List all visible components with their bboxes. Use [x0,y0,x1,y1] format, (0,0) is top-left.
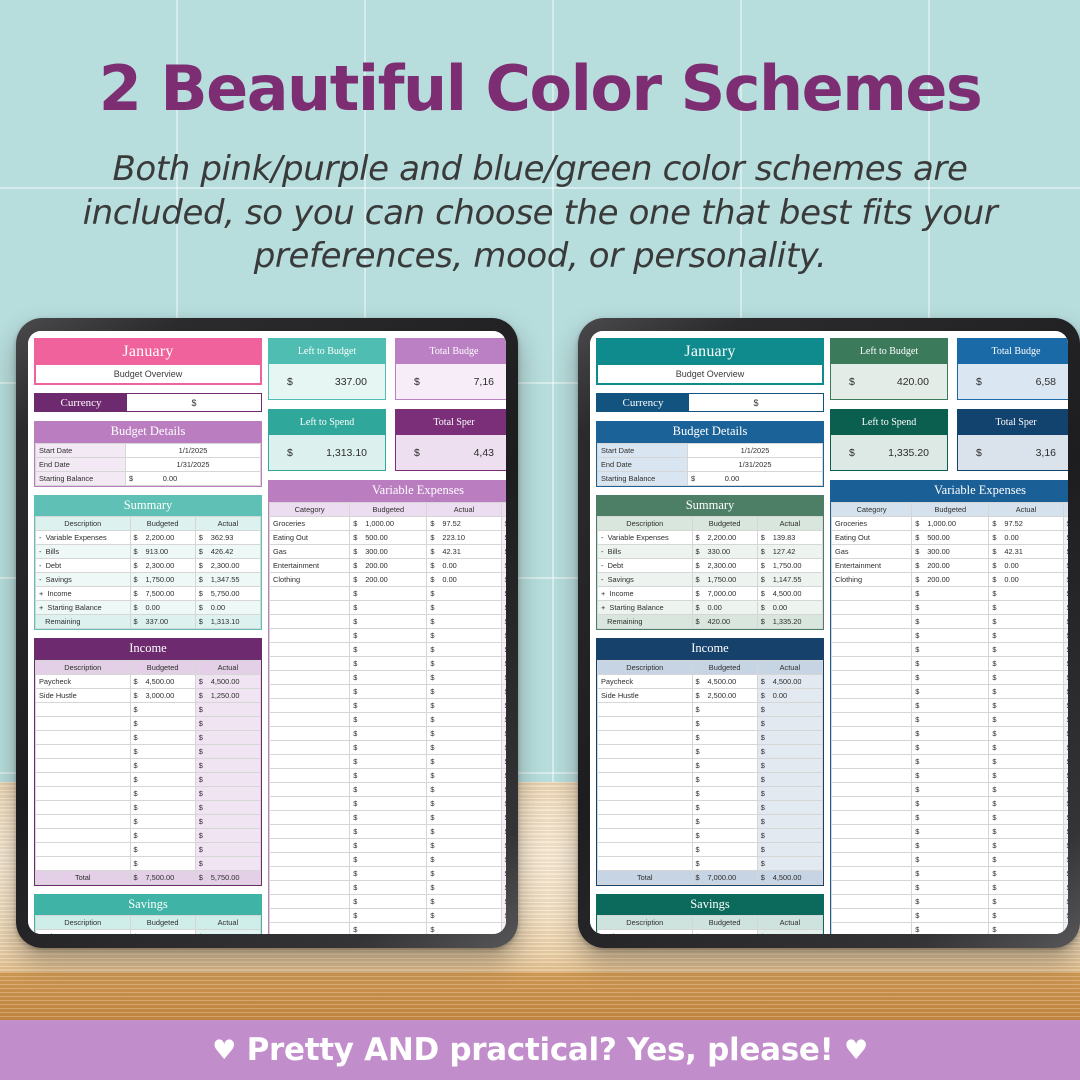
money-cell[interactable]: $ [350,600,427,614]
money-cell[interactable]: $2,200.00 [130,531,195,545]
row-label[interactable] [832,726,912,740]
money-cell[interactable]: $ [757,842,822,856]
row-label[interactable] [832,922,912,934]
money-cell[interactable]: $ [912,586,989,600]
money-cell[interactable]: $ [350,628,427,642]
row-label[interactable] [598,842,693,856]
money-cell[interactable]: $913.00 [130,545,195,559]
row-label[interactable] [36,716,131,730]
table-row[interactable]: $$ [598,786,823,800]
table-row[interactable]: Eating Out$500.00$0.00$500 [832,530,1069,544]
row-label[interactable] [270,768,350,782]
money-cell[interactable]: $ [989,656,1063,670]
table-row[interactable]: Gas$300.00$42.31$257 [832,544,1069,558]
money-cell[interactable]: $2,200.00 [692,531,757,545]
row-label[interactable] [270,838,350,852]
money-cell[interactable]: $ [912,782,989,796]
row-label[interactable] [270,628,350,642]
row-label[interactable] [270,782,350,796]
table-row[interactable]: $$$ [832,796,1069,810]
table-row[interactable]: $$ [598,856,823,870]
table-row[interactable]: $$ [598,744,823,758]
money-cell[interactable]: $7,500.00 [130,587,195,601]
table-row[interactable]: $$$ [832,824,1069,838]
money-cell[interactable]: $426.42 [195,545,260,559]
money-cell[interactable]: $ [989,768,1063,782]
money-cell[interactable]: $300.00 [350,544,427,558]
money-cell[interactable]: $ [427,922,501,934]
money-cell[interactable]: $ [427,852,501,866]
money-cell[interactable]: $ [989,642,1063,656]
money-cell[interactable]: $ [1063,922,1068,934]
money-cell[interactable]: $ [501,726,506,740]
row-label[interactable] [598,800,693,814]
table-row[interactable]: $$ [598,772,823,786]
money-cell[interactable]: $7,000.00 [692,870,757,884]
money-cell[interactable]: $ [912,614,989,628]
money-cell[interactable]: $ [195,744,260,758]
money-cell[interactable]: $ [912,824,989,838]
kpi-left-to-spend[interactable]: Left to Spend$1,335.20 [830,409,948,471]
money-cell[interactable]: $ [350,880,427,894]
table-row[interactable]: $$$ [270,740,507,754]
money-cell[interactable]: $1,000.00 [195,930,260,935]
money-cell[interactable]: $ [989,600,1063,614]
row-label[interactable] [36,856,131,870]
money-cell[interactable]: $ [501,670,506,684]
money-cell[interactable]: $2,300.00 [692,559,757,573]
money-cell[interactable]: $2,300.00 [195,559,260,573]
money-cell[interactable]: $ [692,702,757,716]
money-cell[interactable]: $ [989,726,1063,740]
table-row[interactable]: - Debt$2,300.00$2,300.00 [36,559,261,573]
table-row[interactable]: $$ [36,730,261,744]
row-label[interactable]: Entertainment [832,558,912,572]
money-cell[interactable]: $276 [501,530,506,544]
money-cell[interactable]: $2,300.00 [130,559,195,573]
row-label[interactable] [270,670,350,684]
table-row[interactable]: $$ [36,800,261,814]
table-row[interactable]: $$$ [270,642,507,656]
row-label[interactable] [270,712,350,726]
money-cell[interactable]: $127.42 [757,545,822,559]
table-row[interactable]: $$$ [832,782,1069,796]
table-row[interactable]: $$ [36,814,261,828]
money-cell[interactable]: $ [350,824,427,838]
money-cell[interactable]: $ [350,866,427,880]
row-label[interactable] [832,740,912,754]
money-cell[interactable]: $ [501,628,506,642]
money-cell[interactable]: $1,750.00 [757,559,822,573]
money-cell[interactable]: $ [1063,796,1068,810]
table-row[interactable]: $$$ [270,586,507,600]
money-cell[interactable]: $ [130,772,195,786]
money-cell[interactable]: $ [1063,852,1068,866]
table-row[interactable]: $$$ [270,908,507,922]
money-cell[interactable]: $ [350,908,427,922]
table-row[interactable]: - Debt$2,300.00$1,750.00 [598,559,823,573]
money-cell[interactable]: $902 [501,516,506,530]
money-cell[interactable]: $ [427,642,501,656]
table-row[interactable]: Entertainment$200.00$0.00$200 [270,558,507,572]
money-cell[interactable]: $ [912,754,989,768]
money-cell[interactable]: $ [912,908,989,922]
money-cell[interactable]: $ [195,716,260,730]
row-label[interactable] [832,908,912,922]
table-row[interactable]: $$$ [832,922,1069,934]
money-cell[interactable]: $200 [501,572,506,586]
row-label[interactable] [832,600,912,614]
currency-value[interactable]: $ [689,394,823,411]
row-label[interactable] [832,852,912,866]
money-cell[interactable]: $ [989,684,1063,698]
money-cell[interactable]: $ [427,670,501,684]
money-cell[interactable]: $ [757,786,822,800]
table-row[interactable]: - Savings$1,750.00$1,147.55 [598,573,823,587]
table-row[interactable]: $$ [36,702,261,716]
currency-value[interactable]: $ [127,394,261,411]
money-cell[interactable]: $ [692,856,757,870]
row-label[interactable] [270,824,350,838]
row-label[interactable]: Side Hustle [36,688,131,702]
money-cell[interactable]: $ [989,782,1063,796]
money-cell[interactable]: $300.00 [912,544,989,558]
row-label[interactable]: Clothing [832,572,912,586]
money-cell[interactable]: $ [692,842,757,856]
money-cell[interactable]: $ [501,782,506,796]
money-cell[interactable]: $ [130,828,195,842]
row-label[interactable] [270,908,350,922]
money-cell[interactable]: $ [195,814,260,828]
money-cell[interactable]: $1,000.00 [350,516,427,530]
table-row[interactable]: Retirement$1,000.00$1,000.00 [598,930,823,935]
money-cell[interactable]: $ [195,758,260,772]
table-row[interactable]: Clothing$200.00$0.00$200 [270,572,507,586]
row-label[interactable]: Clothing [270,572,350,586]
table-row[interactable]: $$ [598,758,823,772]
table-row[interactable]: $$ [36,786,261,800]
money-cell[interactable]: $1,000.00 [912,516,989,530]
money-cell[interactable]: $ [350,754,427,768]
money-cell[interactable]: $ [912,670,989,684]
money-cell[interactable]: $0.00 [989,530,1063,544]
row-label[interactable] [598,856,693,870]
money-cell[interactable]: $ [692,800,757,814]
money-cell[interactable]: $ [130,856,195,870]
row-label[interactable] [270,740,350,754]
table-row[interactable]: $$ [36,758,261,772]
money-cell[interactable]: $ [501,922,506,934]
table-row[interactable]: $$$ [832,852,1069,866]
row-label[interactable] [36,800,131,814]
money-cell[interactable]: $ [989,586,1063,600]
money-cell[interactable]: $200 [501,558,506,572]
table-row[interactable]: $$$ [270,838,507,852]
money-cell[interactable]: $ [989,922,1063,934]
table-row[interactable]: $$$ [270,600,507,614]
money-cell[interactable]: $ [1063,824,1068,838]
money-cell[interactable]: $ [501,810,506,824]
row-label[interactable] [36,744,131,758]
table-row[interactable]: $$$ [270,656,507,670]
table-row[interactable]: End Date1/31/2025 [36,457,261,471]
money-cell[interactable]: $ [912,880,989,894]
table-row[interactable]: End Date1/31/2025 [598,457,823,471]
money-cell[interactable]: $ [989,740,1063,754]
table-row[interactable]: $$$ [832,838,1069,852]
table-row[interactable]: $$$ [832,880,1069,894]
money-cell[interactable]: $ [350,768,427,782]
money-cell[interactable]: $1,000.00 [757,930,822,935]
money-cell[interactable]: $ [501,754,506,768]
table-row[interactable]: $$ [598,828,823,842]
money-cell[interactable]: $2,500.00 [692,688,757,702]
money-cell[interactable]: $ [350,586,427,600]
table-row[interactable]: $$$ [270,698,507,712]
money-cell[interactable]: $ [989,866,1063,880]
money-cell[interactable]: $ [427,754,501,768]
row-value[interactable]: 1/1/2025 [688,443,823,457]
money-cell[interactable]: $ [501,600,506,614]
tablet-right-screen[interactable]: JanuaryBudget OverviewCurrency$Budget De… [590,331,1068,934]
row-label[interactable]: Gas [270,544,350,558]
money-cell[interactable]: $0.00 [427,558,501,572]
money-cell[interactable]: $ [1063,880,1068,894]
money-cell[interactable]: $ [912,684,989,698]
money-cell[interactable]: $ [1063,782,1068,796]
money-cell[interactable]: $ [350,670,427,684]
money-cell[interactable]: $0.00 [989,558,1063,572]
money-cell[interactable]: $ [350,922,427,934]
money-cell[interactable]: $ [350,726,427,740]
money-cell[interactable]: $330.00 [692,545,757,559]
row-label[interactable] [36,786,131,800]
money-cell[interactable]: $97.52 [427,516,501,530]
table-row[interactable]: $$$ [270,852,507,866]
money-cell[interactable]: $ [692,730,757,744]
money-cell[interactable]: $ [350,698,427,712]
money-cell[interactable]: $ [757,772,822,786]
money-cell[interactable]: $ [350,614,427,628]
money-cell[interactable]: $ [912,628,989,642]
table-row[interactable]: Remaining$337.00$1,313.10 [36,615,261,629]
table-row[interactable]: $$$ [832,642,1069,656]
money-cell[interactable]: $ [195,842,260,856]
row-label[interactable] [832,642,912,656]
table-row[interactable]: Clothing$200.00$0.00$200 [832,572,1069,586]
money-cell[interactable]: $200.00 [350,572,427,586]
table-row[interactable]: $$$ [832,712,1069,726]
table-row[interactable]: $$$ [270,824,507,838]
money-cell[interactable]: $ [1063,684,1068,698]
table-row[interactable]: + Starting Balance$0.00$0.00 [36,601,261,615]
money-cell[interactable]: $ [989,698,1063,712]
money-cell[interactable]: $200 [1063,572,1068,586]
table-row[interactable]: Remaining$420.00$1,335.20 [598,615,823,629]
row-label[interactable] [270,880,350,894]
row-label[interactable] [36,772,131,786]
money-cell[interactable]: $7,000.00 [692,587,757,601]
table-row[interactable]: - Variable Expenses$2,200.00$139.83 [598,531,823,545]
table-row[interactable]: $$$ [270,712,507,726]
money-cell[interactable]: $ [1063,754,1068,768]
table-row[interactable]: Eating Out$500.00$223.10$276 [270,530,507,544]
money-cell[interactable]: $ [912,740,989,754]
money-cell[interactable]: $ [427,656,501,670]
money-cell[interactable]: $42.31 [427,544,501,558]
table-row[interactable]: - Bills$330.00$127.42 [598,545,823,559]
kpi-left-to-budget[interactable]: Left to Budget$420.00 [830,338,948,400]
row-label[interactable] [270,754,350,768]
money-cell[interactable]: $ [501,866,506,880]
money-cell[interactable]: $500.00 [350,530,427,544]
table-row[interactable]: $$$ [832,726,1069,740]
row-label[interactable] [598,786,693,800]
table-row[interactable]: $$$ [832,698,1069,712]
kpi-total-budget[interactable]: Total Budge$7,16 [395,338,506,400]
money-cell[interactable]: $ [130,786,195,800]
row-label[interactable] [832,810,912,824]
money-cell[interactable]: $ [989,754,1063,768]
money-cell[interactable]: $ [692,786,757,800]
table-row[interactable]: $$$ [832,866,1069,880]
row-label[interactable] [832,754,912,768]
money-cell[interactable]: $0.00 [427,572,501,586]
row-label[interactable] [270,656,350,670]
row-label[interactable] [832,838,912,852]
money-cell[interactable]: $ [692,716,757,730]
money-cell[interactable]: $4,500.00 [692,674,757,688]
money-cell[interactable]: $ [757,716,822,730]
money-cell[interactable]: $ [130,800,195,814]
table-row[interactable]: $$$ [832,684,1069,698]
money-cell[interactable]: $0.00 [130,601,195,615]
money-cell[interactable]: $ [501,712,506,726]
row-label[interactable] [832,670,912,684]
row-value[interactable]: $0.00 [126,471,261,485]
table-row[interactable]: $$$ [832,614,1069,628]
table-row[interactable]: Groceries$1,000.00$97.52$903 [832,516,1069,530]
money-cell[interactable]: $ [1063,838,1068,852]
money-cell[interactable]: $1,335.20 [757,615,822,629]
row-label[interactable] [832,866,912,880]
money-cell[interactable]: $200.00 [350,558,427,572]
row-label[interactable] [832,698,912,712]
money-cell[interactable]: $ [912,894,989,908]
money-cell[interactable]: $ [427,894,501,908]
money-cell[interactable]: $ [1063,810,1068,824]
table-row[interactable]: Paycheck$4,500.00$4,500.00 [598,674,823,688]
money-cell[interactable]: $ [912,810,989,824]
row-label[interactable]: Retirement [598,930,693,935]
money-cell[interactable]: $ [195,730,260,744]
money-cell[interactable]: $0.00 [692,601,757,615]
money-cell[interactable]: $ [692,758,757,772]
currency-row[interactable]: Currency$ [596,393,824,412]
money-cell[interactable]: $ [912,768,989,782]
row-label[interactable] [832,684,912,698]
table-row[interactable]: $$$ [832,908,1069,922]
money-cell[interactable]: $ [1063,726,1068,740]
row-label[interactable] [832,586,912,600]
table-row[interactable]: Entertainment$200.00$0.00$200 [832,558,1069,572]
table-row[interactable]: $$$ [832,628,1069,642]
row-label[interactable] [270,698,350,712]
row-label[interactable] [270,726,350,740]
money-cell[interactable]: $1,347.55 [195,573,260,587]
money-cell[interactable]: $ [757,744,822,758]
money-cell[interactable]: $ [692,828,757,842]
money-cell[interactable]: $ [427,684,501,698]
kpi-total-spent[interactable]: Total Sper$4,43 [395,409,506,471]
table-row[interactable]: Start Date1/1/2025 [598,443,823,457]
money-cell[interactable]: $42.31 [989,544,1063,558]
kpi-total-spent[interactable]: Total Sper$3,16 [957,409,1068,471]
money-cell[interactable]: $1,313.10 [195,615,260,629]
row-label[interactable] [832,768,912,782]
table-row[interactable]: $$$ [270,726,507,740]
money-cell[interactable]: $ [195,828,260,842]
money-cell[interactable]: $ [912,922,989,934]
money-cell[interactable]: $4,500.00 [757,870,822,884]
table-row[interactable]: - Savings$1,750.00$1,347.55 [36,573,261,587]
money-cell[interactable]: $ [912,838,989,852]
row-label[interactable]: Groceries [832,516,912,530]
table-row[interactable]: Side Hustle$2,500.00$0.00 [598,688,823,702]
table-row[interactable]: $$$ [832,810,1069,824]
money-cell[interactable]: $ [427,880,501,894]
money-cell[interactable]: $ [989,796,1063,810]
table-row[interactable]: - Variable Expenses$2,200.00$362.93 [36,531,261,545]
row-label[interactable] [270,614,350,628]
row-label[interactable] [270,600,350,614]
money-cell[interactable]: $500 [1063,530,1068,544]
money-cell[interactable]: $ [350,740,427,754]
money-cell[interactable]: $ [501,698,506,712]
money-cell[interactable]: $7,500.00 [130,870,195,884]
money-cell[interactable]: $ [130,814,195,828]
kpi-left-to-budget[interactable]: Left to Budget$337.00 [268,338,386,400]
money-cell[interactable]: $ [195,856,260,870]
money-cell[interactable]: $ [130,758,195,772]
money-cell[interactable]: $139.83 [757,531,822,545]
money-cell[interactable]: $ [501,796,506,810]
money-cell[interactable]: $ [989,614,1063,628]
money-cell[interactable]: $ [1063,600,1068,614]
money-cell[interactable]: $ [912,642,989,656]
table-row[interactable]: $$ [36,716,261,730]
money-cell[interactable]: $ [350,712,427,726]
money-cell[interactable]: $ [427,740,501,754]
table-row[interactable]: $$$ [270,866,507,880]
table-row[interactable]: - Bills$913.00$426.42 [36,545,261,559]
row-label[interactable] [832,614,912,628]
money-cell[interactable]: $ [757,814,822,828]
row-label[interactable]: Eating Out [832,530,912,544]
row-label[interactable] [270,796,350,810]
money-cell[interactable]: $0.00 [757,601,822,615]
row-label[interactable] [598,772,693,786]
table-row[interactable]: $$$ [270,628,507,642]
row-label[interactable] [36,828,131,842]
money-cell[interactable]: $ [912,656,989,670]
money-cell[interactable]: $ [427,866,501,880]
row-value[interactable]: 1/31/2025 [688,457,823,471]
money-cell[interactable]: $ [130,744,195,758]
row-label[interactable] [270,894,350,908]
money-cell[interactable]: $ [427,824,501,838]
table-row[interactable]: $$ [36,842,261,856]
